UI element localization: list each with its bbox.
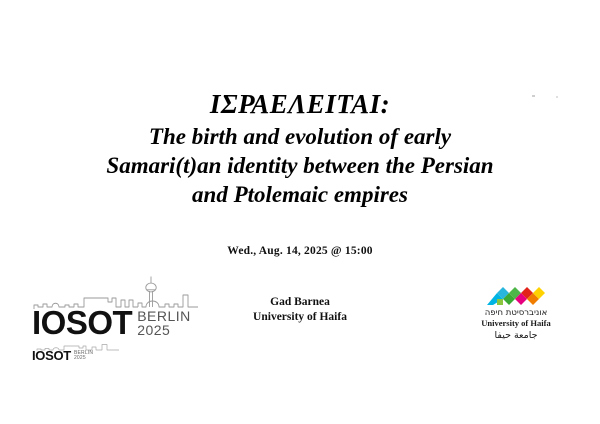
iosot-logo-small: IOSOT BERLIN 2025 bbox=[32, 341, 128, 362]
iosot-city-year: BERLIN 2025 bbox=[137, 310, 191, 338]
iosot-small-wordmark: IOSOT bbox=[32, 350, 71, 362]
page-subtitle: The birth and evolution of early Samari(… bbox=[0, 122, 600, 209]
haifa-name-arabic: جامعة حيفا bbox=[474, 329, 558, 342]
slide-canvas: ΙΣΡΑΕΛΕΙΤΑΙ: The birth and evolution of … bbox=[0, 0, 600, 424]
university-of-haifa-logo: אוניברסיטת חיפה University of Haifa جامع… bbox=[474, 283, 558, 342]
iosot-wordmark-row: IOSOT BERLIN 2025 bbox=[32, 308, 208, 338]
scan-artifact-speck bbox=[532, 95, 535, 97]
haifa-emblem-icon bbox=[486, 283, 546, 306]
subtitle-line-2: Samari(t)an identity between the Persian bbox=[0, 151, 600, 180]
iosot-logo: IOSOT BERLIN 2025 bbox=[32, 276, 208, 338]
iosot-wordmark: IOSOT bbox=[32, 308, 132, 338]
haifa-name-english: University of Haifa bbox=[474, 318, 558, 328]
subtitle-line-3: and Ptolemaic empires bbox=[0, 180, 600, 209]
iosot-small-year: 2025 bbox=[74, 356, 93, 361]
iosot-small-city-year: BERLIN 2025 bbox=[74, 351, 93, 362]
haifa-name-hebrew: אוניברסיטת חיפה bbox=[474, 308, 558, 318]
title-block: ΙΣΡΑΕΛΕΙΤΑΙ: The birth and evolution of … bbox=[0, 88, 600, 209]
page-title: ΙΣΡΑΕΛΕΙΤΑΙ: bbox=[0, 88, 600, 120]
event-datetime: Wed., Aug. 14, 2025 @ 15:00 bbox=[0, 245, 600, 257]
iosot-small-wordmark-row: IOSOT BERLIN 2025 bbox=[32, 350, 128, 362]
subtitle-line-1: The birth and evolution of early bbox=[0, 122, 600, 151]
scan-artifact-speck bbox=[556, 96, 558, 98]
iosot-year: 2025 bbox=[137, 324, 191, 338]
